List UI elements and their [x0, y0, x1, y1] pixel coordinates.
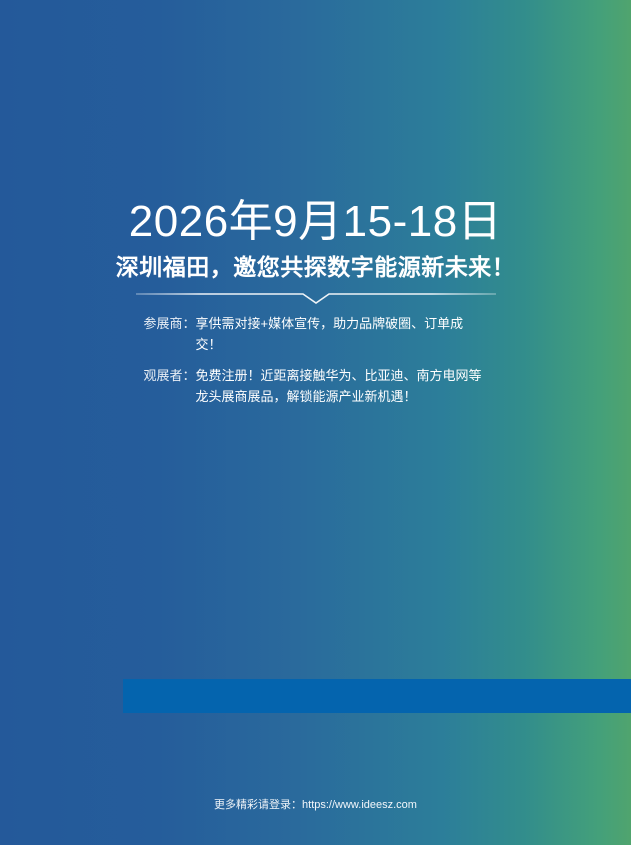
detail-text-exhibitor: 享供需对接+媒体宣传，助力品牌破圈、订单成交！	[196, 313, 488, 355]
poster-content: 2026年9月15-18日 深圳福田，邀您共探数字能源新未来！ 参展商： 享供	[0, 196, 631, 407]
divider-line-icon	[135, 291, 497, 305]
detail-label-exhibitor: 参展商：	[143, 313, 195, 334]
detail-label-visitor: 观展者：	[143, 365, 195, 386]
detail-row: 参展商： 享供需对接+媒体宣传，助力品牌破圈、订单成交！	[60, 313, 571, 355]
detail-row: 观展者： 免费注册！近距离接触华为、比亚迪、南方电网等龙头展商展品，解锁能源产业…	[60, 365, 571, 407]
footer-url[interactable]: https://www.ideesz.com	[302, 799, 417, 811]
headline-date: 2026年9月15-18日	[60, 196, 571, 248]
details-list: 参展商： 享供需对接+媒体宣传，助力品牌破圈、订单成交！ 观展者： 免费注册！近…	[60, 313, 571, 407]
footer-label: 更多精彩请登录：	[214, 799, 302, 811]
headline-subtitle: 深圳福田，邀您共探数字能源新未来！	[60, 252, 571, 282]
blue-accent-band	[123, 679, 631, 713]
divider-ornament	[135, 291, 497, 305]
poster-canvas: 2026年9月15-18日 深圳福田，邀您共探数字能源新未来！ 参展商： 享供	[0, 0, 631, 845]
detail-text-visitor: 免费注册！近距离接触华为、比亚迪、南方电网等龙头展商展品，解锁能源产业新机遇！	[196, 365, 488, 407]
footer: 更多精彩请登录：https://www.ideesz.com	[0, 797, 631, 813]
